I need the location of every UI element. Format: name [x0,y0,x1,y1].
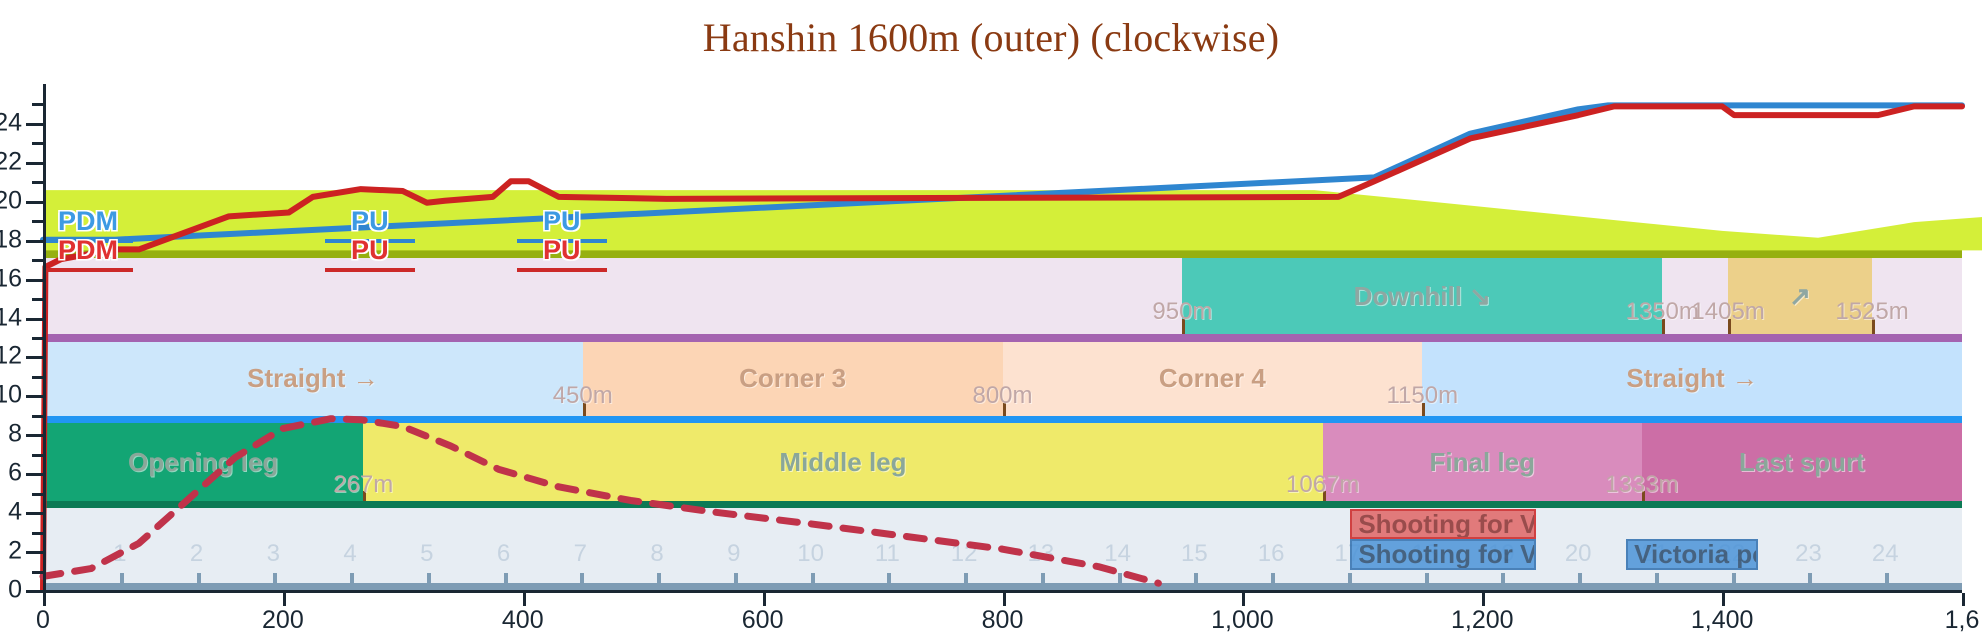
x-tick-label: 400 [502,606,544,635]
marker-bar [325,268,415,272]
y-tick-label: 4 [0,498,22,527]
y-tick [26,279,46,282]
y-tick-minor [32,259,46,262]
x-tick [523,593,526,606]
x-tick [1482,593,1485,606]
y-tick-label: 14 [0,303,22,332]
y-tick-minor [32,376,46,379]
skill-box-label: Shooting for V [1358,509,1536,539]
x-tick-label: 1,400 [1691,606,1754,635]
x-tick-label: 0 [36,606,50,635]
marker-bar [517,268,607,272]
x-tick [283,593,286,606]
y-tick-label: 8 [0,420,22,449]
shooting-for-victory-red[interactable]: Shooting for V [1350,509,1536,539]
y-tick-minor [32,415,46,418]
y-tick-minor [32,493,46,496]
y-tick [26,473,46,476]
y-tick [26,318,46,321]
y-tick-minor [32,181,46,184]
marker-label: PU [351,206,389,237]
y-tick-label: 2 [0,537,22,566]
x-tick [1003,593,1006,606]
y-tick [26,162,46,165]
marker-label: PDM [58,206,118,237]
y-tick-label: 6 [0,459,22,488]
y-tick [26,201,46,204]
marker-bar [43,268,133,272]
elevation-lines [43,84,1962,590]
skill-box-label: Victoria por [1634,539,1758,569]
marker-label: PU [351,235,389,266]
blue-elevation-line [43,105,1962,239]
x-tick [1242,593,1245,606]
y-tick [26,395,46,398]
red-elevation-line [43,106,1962,590]
y-tick-label: 16 [0,264,22,293]
plot-area: Downhill ↘↗950m1350m1405m1525mStraight →… [43,84,1962,590]
x-tick [763,593,766,606]
marker-pu2-red[interactable]: PU [517,268,607,272]
y-tick-label: 22 [0,147,22,176]
x-tick-label: 1,6 [1945,606,1980,635]
y-tick-minor [32,454,46,457]
x-tick-label: 1,000 [1211,606,1274,635]
victoria-port-blue[interactable]: Victoria por [1626,539,1758,569]
x-tick [1962,593,1965,606]
x-tick-label: 200 [262,606,304,635]
y-tick [26,434,46,437]
x-axis [43,590,1962,593]
y-tick-minor [32,298,46,301]
marker-label: PU [543,206,581,237]
x-tick [43,593,46,606]
marker-label: PDM [58,235,118,266]
y-tick [26,551,46,554]
x-tick-label: 800 [982,606,1024,635]
marker-pdm-red[interactable]: PDM [43,268,133,272]
y-tick-minor [32,337,46,340]
y-tick [26,356,46,359]
y-tick-minor [32,103,46,106]
y-tick-label: 10 [0,381,22,410]
y-tick [26,123,46,126]
marker-pu1-red[interactable]: PU [325,268,415,272]
shooting-for-victory-blue[interactable]: Shooting for V [1350,539,1536,569]
marker-label: PU [543,235,581,266]
y-axis [43,84,46,590]
y-tick-minor [32,142,46,145]
x-tick [1722,593,1725,606]
stamina-dashed-curve [43,419,1158,583]
y-tick-minor [32,571,46,574]
y-tick-label: 20 [0,186,22,215]
skill-box-label: Shooting for V [1358,539,1536,569]
y-tick-minor [32,532,46,535]
y-tick [26,512,46,515]
page-title: Hanshin 1600m (outer) (clockwise) [0,14,1982,61]
y-tick-label: 12 [0,342,22,371]
y-tick-label: 24 [0,108,22,137]
x-tick-label: 600 [742,606,784,635]
y-tick [26,240,46,243]
x-tick-label: 1,200 [1451,606,1514,635]
race-course-chart: Hanshin 1600m (outer) (clockwise) Downhi… [0,0,1982,640]
y-tick-label: 0 [0,576,22,605]
y-tick-label: 18 [0,225,22,254]
y-tick-minor [32,220,46,223]
